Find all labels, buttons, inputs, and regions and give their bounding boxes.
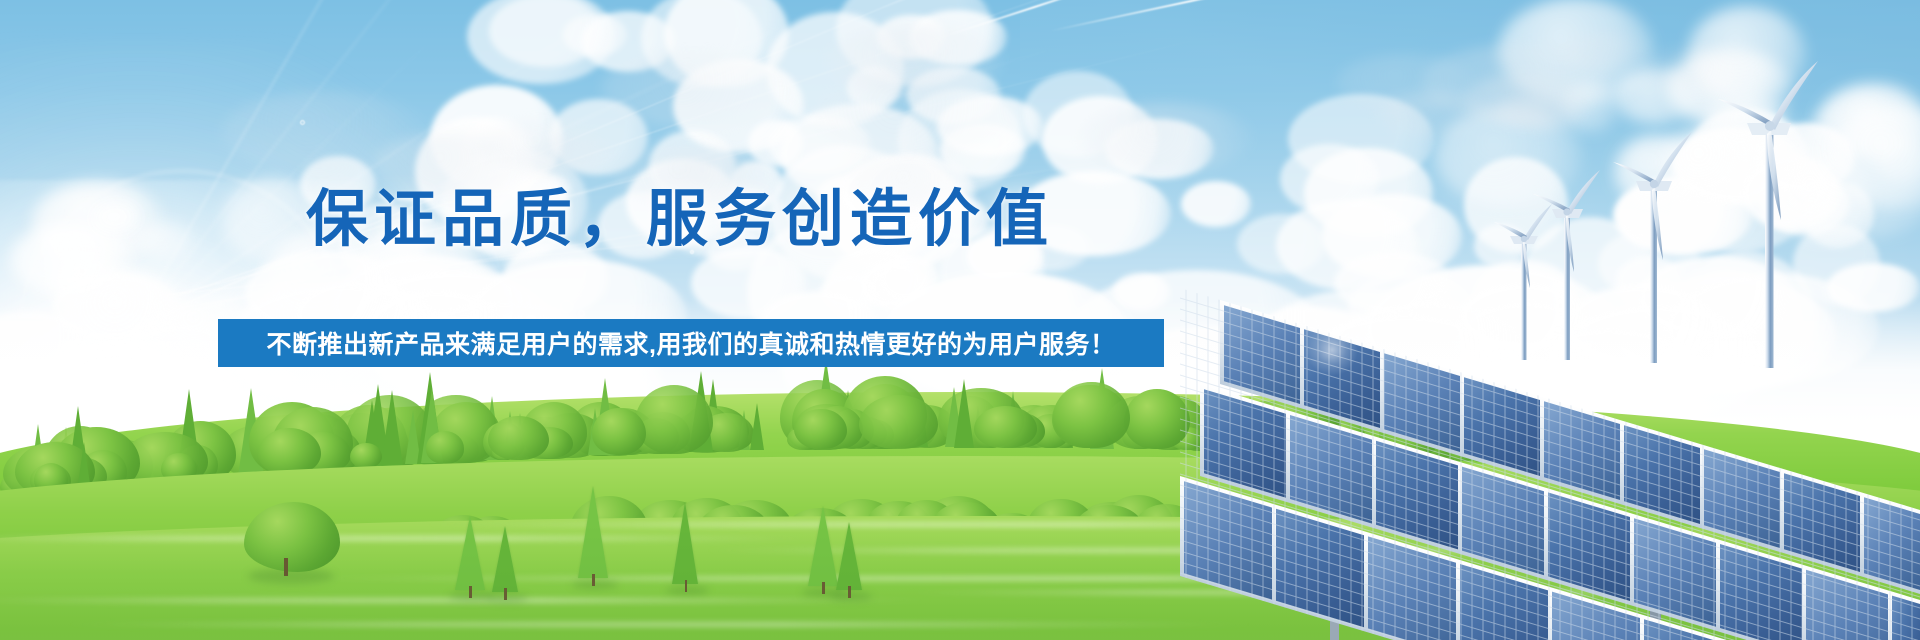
cloud-wisp xyxy=(1080,103,1253,172)
cloud-puff xyxy=(467,0,615,84)
solar-panel-array xyxy=(1180,280,1920,640)
cloud-wisp xyxy=(809,73,1015,155)
cloud-wisp xyxy=(221,91,426,173)
subtitle-text: 不断推出新产品来满足用户的需求,用我们的真诚和热情更好的为用户服务！ xyxy=(267,325,1116,361)
solar-panel-svg xyxy=(1180,280,1920,640)
page-title: 保证品质，服务创造价值 xyxy=(0,168,1360,258)
panel-flare xyxy=(1306,324,1358,376)
hero-banner: 保证品质，服务创造价值 不断推出新产品来满足用户的需求,用我们的真诚和热情更好的… xyxy=(0,0,1920,640)
cloud-wisp xyxy=(601,50,794,127)
solar-panel-rows xyxy=(1180,288,1920,640)
subtitle-banner: 不断推出新产品来满足用户的需求,用我们的真诚和热情更好的为用户服务！ xyxy=(218,319,1164,367)
